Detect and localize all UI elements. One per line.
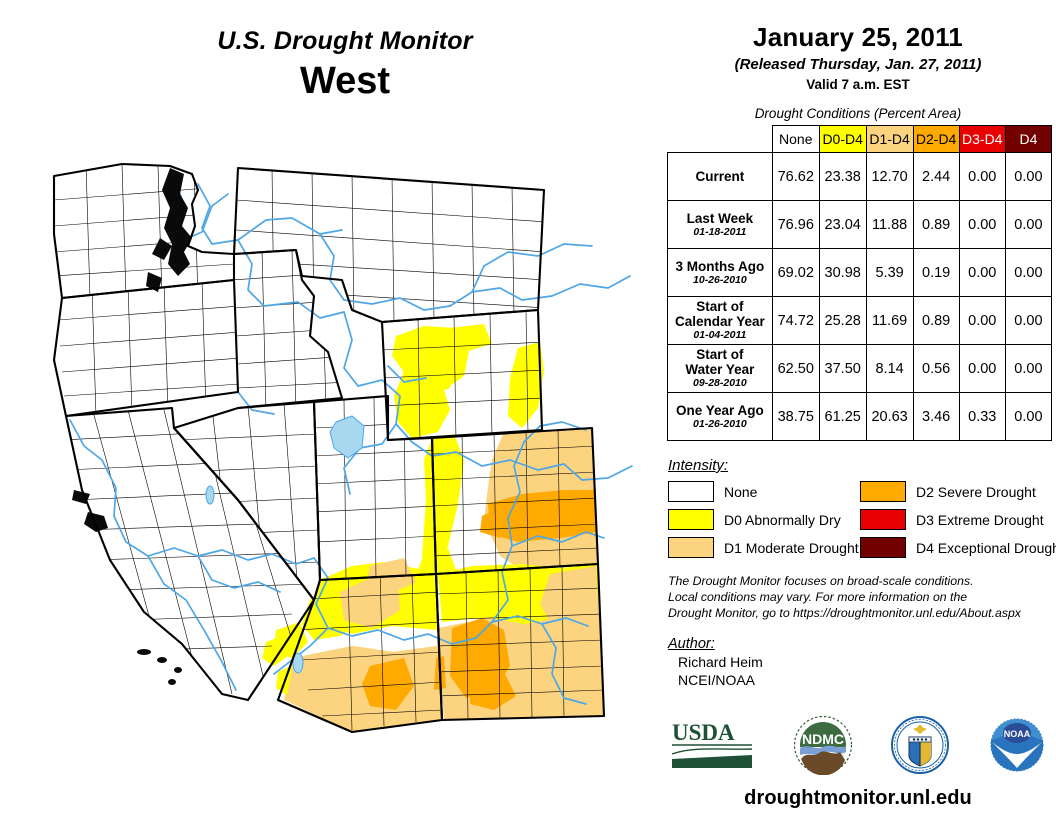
- table-cell-d4: 0.00: [1005, 249, 1051, 297]
- table-cell-d1-d4: 8.14: [866, 345, 913, 393]
- legend-item: None: [668, 481, 860, 502]
- valid-time: Valid 7 a.m. EST: [664, 77, 1052, 92]
- legend-item: D0 Abnormally Dry: [668, 509, 860, 530]
- legend-item: D1 Moderate Drought: [668, 537, 860, 558]
- table-cell-none: 69.02: [772, 249, 819, 297]
- legend-grid: NoneD2 Severe DroughtD0 Abnormally DryD3…: [668, 481, 1052, 558]
- row-label: Start ofWater Year09-28-2010: [668, 345, 773, 393]
- release-date: (Released Thursday, Jan. 27, 2011): [664, 56, 1052, 73]
- row-label: Start ofCalendar Year01-04-2011: [668, 297, 773, 345]
- table-cell-d4: 0.00: [1005, 345, 1051, 393]
- site-url[interactable]: droughtmonitor.unl.edu: [664, 787, 1052, 810]
- table-cell-d3-d4: 0.00: [959, 153, 1005, 201]
- disclaimer-text: The Drought Monitor focuses on broad-sca…: [668, 573, 1052, 622]
- svg-text:USDA: USDA: [672, 720, 735, 745]
- row-label: Current: [668, 153, 773, 201]
- disclaimer-line-3: Drought Monitor, go to https://droughtmo…: [668, 605, 1052, 621]
- legend-item: D4 Exceptional Drought: [860, 537, 1052, 558]
- column-header-d4: D4: [1005, 126, 1051, 153]
- table-cell-d4: 0.00: [1005, 393, 1051, 441]
- table-cell-none: 76.62: [772, 153, 819, 201]
- table-cell-d2-d4: 0.89: [913, 201, 959, 249]
- legend-label: None: [724, 484, 757, 500]
- row-label-date: 01-26-2010: [672, 419, 768, 431]
- author-heading: Author:: [668, 636, 1052, 652]
- drought-conditions-table: None D0-D4 D1-D4 D2-D4 D3-D4 D4 Current7…: [667, 125, 1052, 441]
- table-cell-d0-d4: 30.98: [819, 249, 866, 297]
- row-label: One Year Ago01-26-2010: [668, 393, 773, 441]
- column-header-d1-d4: D1-D4: [866, 126, 913, 153]
- logo-row: USDA NDMC: [664, 712, 1052, 782]
- author-name: Richard Heim: [678, 654, 1052, 670]
- legend-swatch: [860, 537, 906, 558]
- table-cell-d3-d4: 0.00: [959, 297, 1005, 345]
- usdc-seal-logo: [891, 716, 949, 779]
- column-header-none: None: [772, 126, 819, 153]
- row-label-name: Water Year: [672, 362, 768, 377]
- svg-text:NOAA: NOAA: [1004, 729, 1031, 739]
- table-corner-cell: [668, 126, 773, 153]
- table-row: Last Week01-18-201176.9623.0411.880.890.…: [668, 201, 1052, 249]
- legend-label: D1 Moderate Drought: [724, 540, 859, 556]
- table-cell-d2-d4: 3.46: [913, 393, 959, 441]
- legend-swatch: [668, 537, 714, 558]
- table-cell-d0-d4: 61.25: [819, 393, 866, 441]
- table-cell-d2-d4: 2.44: [913, 153, 959, 201]
- column-header-d3-d4: D3-D4: [959, 126, 1005, 153]
- row-label-name: Current: [672, 169, 768, 184]
- legend-swatch: [860, 509, 906, 530]
- table-row: Start ofWater Year09-28-201062.5037.508.…: [668, 345, 1052, 393]
- row-label-name: One Year Ago: [672, 403, 768, 418]
- row-label-date: 10-26-2010: [672, 275, 768, 287]
- legend-item: D3 Extreme Drought: [860, 509, 1052, 530]
- title-region: West: [120, 60, 570, 104]
- legend-label: D2 Severe Drought: [916, 484, 1036, 500]
- column-header-d2-d4: D2-D4: [913, 126, 959, 153]
- ndmc-logo: NDMC: [793, 715, 853, 780]
- table-cell-d0-d4: 25.28: [819, 297, 866, 345]
- map-svg: [52, 160, 662, 785]
- table-cell-d1-d4: 12.70: [866, 153, 913, 201]
- row-label: Last Week01-18-2011: [668, 201, 773, 249]
- disclaimer-line-1: The Drought Monitor focuses on broad-sca…: [668, 573, 1052, 589]
- table-cell-d3-d4: 0.33: [959, 393, 1005, 441]
- row-label-date: 01-18-2011: [672, 227, 768, 239]
- author-affiliation: NCEI/NOAA: [678, 672, 1052, 688]
- usda-logo: USDA: [670, 718, 754, 777]
- legend-swatch: [860, 481, 906, 502]
- row-label-date: 01-04-2011: [672, 330, 768, 342]
- table-cell-d1-d4: 20.63: [866, 393, 913, 441]
- row-label-name: Last Week: [672, 211, 768, 226]
- drought-map[interactable]: [52, 160, 662, 785]
- legend-label: D0 Abnormally Dry: [724, 512, 841, 528]
- table-cell-d2-d4: 0.19: [913, 249, 959, 297]
- legend-item: D2 Severe Drought: [860, 481, 1052, 502]
- date-block: January 25, 2011 (Released Thursday, Jan…: [664, 22, 1052, 92]
- table-cell-d4: 0.00: [1005, 201, 1051, 249]
- table-cell-d3-d4: 0.00: [959, 201, 1005, 249]
- table-cell-d3-d4: 0.00: [959, 345, 1005, 393]
- table-cell-d1-d4: 11.69: [866, 297, 913, 345]
- legend-swatch: [668, 509, 714, 530]
- intensity-heading: Intensity:: [668, 457, 1052, 474]
- drought-monitor-page: U.S. Drought Monitor West: [0, 0, 1056, 816]
- table-cell-d1-d4: 5.39: [866, 249, 913, 297]
- table-cell-none: 62.50: [772, 345, 819, 393]
- table-row: Current76.6223.3812.702.440.000.00: [668, 153, 1052, 201]
- table-header-row: None D0-D4 D1-D4 D2-D4 D3-D4 D4: [668, 126, 1052, 153]
- noaa-logo: NOAA: [988, 716, 1046, 779]
- info-panel: January 25, 2011 (Released Thursday, Jan…: [664, 22, 1052, 812]
- legend-swatch: [668, 481, 714, 502]
- table-row: 3 Months Ago10-26-201069.0230.985.390.19…: [668, 249, 1052, 297]
- page-title: U.S. Drought Monitor West: [120, 28, 570, 103]
- row-label-name: Start of: [672, 299, 768, 314]
- table-cell-none: 76.96: [772, 201, 819, 249]
- legend-label: D4 Exceptional Drought: [916, 540, 1056, 556]
- table-cell-d4: 0.00: [1005, 153, 1051, 201]
- table-cell-d3-d4: 0.00: [959, 249, 1005, 297]
- disclaimer-line-2: Local conditions may vary. For more info…: [668, 589, 1052, 605]
- intensity-legend: Intensity: NoneD2 Severe DroughtD0 Abnor…: [668, 457, 1052, 558]
- table-cell-d4: 0.00: [1005, 297, 1051, 345]
- table-cell-d0-d4: 23.38: [819, 153, 866, 201]
- table-cell-none: 74.72: [772, 297, 819, 345]
- table-cell-d2-d4: 0.89: [913, 297, 959, 345]
- row-label-name: Start of: [672, 347, 768, 362]
- legend-label: D3 Extreme Drought: [916, 512, 1044, 528]
- row-label-name: Calendar Year: [672, 314, 768, 329]
- issue-date: January 25, 2011: [664, 22, 1052, 53]
- table-caption: Drought Conditions (Percent Area): [664, 106, 1052, 121]
- row-label-name: 3 Months Ago: [672, 259, 768, 274]
- table-cell-none: 38.75: [772, 393, 819, 441]
- column-header-d0-d4: D0-D4: [819, 126, 866, 153]
- author-section: Author: Richard Heim NCEI/NOAA: [668, 636, 1052, 688]
- table-row: Start ofCalendar Year01-04-201174.7225.2…: [668, 297, 1052, 345]
- table-cell-d2-d4: 0.56: [913, 345, 959, 393]
- row-label: 3 Months Ago10-26-2010: [668, 249, 773, 297]
- table-cell-d1-d4: 11.88: [866, 201, 913, 249]
- svg-text:NDMC: NDMC: [802, 731, 844, 747]
- title-main: U.S. Drought Monitor: [120, 28, 570, 56]
- table-body: Current76.6223.3812.702.440.000.00Last W…: [668, 153, 1052, 441]
- row-label-date: 09-28-2010: [672, 378, 768, 390]
- table-cell-d0-d4: 37.50: [819, 345, 866, 393]
- table-row: One Year Ago01-26-201038.7561.2520.633.4…: [668, 393, 1052, 441]
- table-cell-d0-d4: 23.04: [819, 201, 866, 249]
